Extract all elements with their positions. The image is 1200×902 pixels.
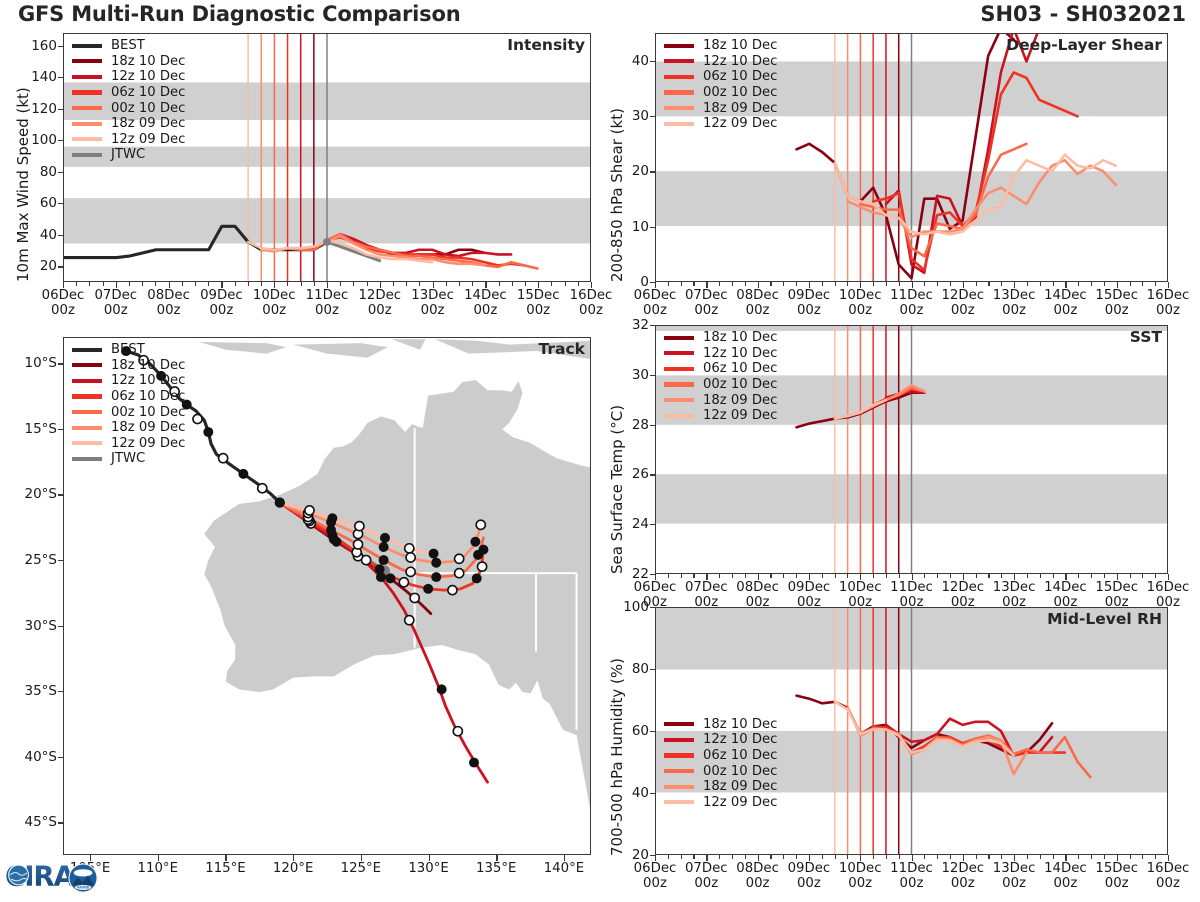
panel-intensity-title: Intensity [507,36,585,54]
x-tick-label: 16Dec00z [1147,289,1190,319]
y-tick-mark [650,474,655,475]
x-tick-minor [847,574,848,578]
x-tick-minor [886,855,887,859]
x-tick-minor [393,282,394,286]
x-tick-minor [195,282,196,286]
x-tick-minor [1078,855,1079,859]
x-tick-mark [1117,574,1118,580]
legend-label: 18z 09 Dec [703,779,777,794]
legend-swatch [664,106,694,110]
x-tick-label: 13Dec00z [993,289,1036,319]
x-tick-mark [809,855,810,861]
lat-tick-mark [58,822,63,823]
x-tick-label: 10Dec00z [839,862,882,892]
x-tick-minor [693,855,694,859]
legend-item-run_06z10[interactable]: 06z 10 Dec [664,361,777,377]
legend-label: 00z 10 Dec [703,377,777,392]
x-tick-minor [103,282,104,286]
panel-shear-title: Deep-Layer Shear [1006,36,1162,54]
x-tick-minor [1091,282,1092,286]
x-tick-mark [591,282,592,288]
x-tick-minor [783,574,784,578]
x-tick-mark [485,282,486,288]
x-tick-mark [1065,282,1066,288]
x-tick-mark [1168,855,1169,861]
x-tick-mark [63,282,64,288]
y-tick-mark [58,77,63,78]
legend-swatch [664,351,694,355]
legend-item-run_12z09[interactable]: 12z 09 Dec [664,794,777,810]
lon-tick-label: 120°E [273,862,313,877]
legend-swatch [72,122,102,126]
x-tick-minor [499,282,500,286]
x-tick-mark [380,282,381,288]
storm-id-title: SH03 - SH032021 [980,2,1186,26]
legend-item-run_18z10[interactable]: 18z 10 Dec [72,54,185,70]
legend-item-run_00z10[interactable]: 00z 10 Dec [72,100,185,116]
x-tick-mark [758,282,759,288]
legend-label: 18z 09 Dec [111,116,185,131]
x-tick-minor [847,855,848,859]
x-tick-minor [745,574,746,578]
x-tick-minor [950,855,951,859]
x-tick-minor [353,282,354,286]
x-tick-minor [1001,282,1002,286]
y-tick-mark [58,140,63,141]
x-tick-minor [1053,855,1054,859]
x-tick-minor [822,855,823,859]
x-tick-mark [1168,282,1169,288]
cira-logo: CIRA RAMMB [4,854,108,898]
legend-item-run_18z09[interactable]: 18z 09 Dec [72,116,185,132]
legend-item-run_12z10[interactable]: 12z 10 Dec [72,373,185,389]
x-tick-mark [116,282,117,288]
y-tick-mark [58,109,63,110]
x-tick-minor [1001,855,1002,859]
x-tick-minor [796,855,797,859]
legend-swatch [664,90,694,94]
x-tick-label: 15Dec00z [517,289,560,319]
x-tick-mark [912,282,913,288]
legend-item-run_06z10[interactable]: 06z 10 Dec [664,69,777,85]
x-tick-minor [988,855,989,859]
legend-item-run_12z09[interactable]: 12z 09 Dec [72,436,185,452]
x-tick-minor [406,282,407,286]
x-tick-label: 11Dec00z [890,289,933,319]
legend-swatch [664,800,694,804]
y-tick-mark [58,203,63,204]
x-tick-minor [1053,574,1054,578]
x-tick-minor [1142,855,1143,859]
legend-item-run_06z10[interactable]: 06z 10 Dec [72,85,185,101]
x-tick-minor [301,282,302,286]
x-tick-minor [719,282,720,286]
legend-swatch [72,44,102,48]
x-tick-minor [822,282,823,286]
lon-tick-mark [564,855,565,861]
legend-swatch [664,44,694,48]
legend-swatch [72,137,102,141]
legend-label: 12z 09 Dec [703,116,777,131]
legend-swatch [72,363,102,367]
legend-item-run_00z10[interactable]: 00z 10 Dec [664,763,777,779]
legend-item-run_18z10[interactable]: 18z 10 Dec [664,330,777,346]
x-tick-minor [1091,574,1092,578]
x-tick-mark [706,282,707,288]
x-tick-label: 15Dec00z [1095,289,1138,319]
x-tick-label: 10Dec00z [253,289,296,319]
legend-label: 18z 09 Dec [703,101,777,116]
x-tick-minor [732,574,733,578]
x-tick-minor [899,574,900,578]
x-tick-minor [719,574,720,578]
legend-item-run_12z09[interactable]: 12z 09 Dec [72,132,185,148]
x-tick-minor [1155,855,1156,859]
legend-label: 12z 10 Dec [703,54,777,69]
x-tick-minor [745,855,746,859]
x-tick-minor [1130,574,1131,578]
y-tick-mark [650,116,655,117]
legend-swatch [72,457,102,461]
legend-label: 12z 09 Dec [703,795,777,810]
legend-swatch [72,348,102,352]
x-tick-minor [1027,574,1028,578]
legend-swatch [664,75,694,79]
lon-tick-mark [158,855,159,861]
lon-tick-label: 110°E [138,862,178,877]
y-tick-mark [650,171,655,172]
x-tick-minor [668,855,669,859]
legend-label: 00z 10 Dec [111,101,185,116]
legend-item-run_00z10[interactable]: 00z 10 Dec [72,404,185,420]
legend-item-run_18z09[interactable]: 18z 09 Dec [664,779,777,795]
legend-item-run_12z09[interactable]: 12z 09 Dec [664,116,777,132]
lat-tick-label: 40°S [5,749,57,765]
y-tick-mark [58,235,63,236]
legend-swatch [664,722,694,726]
x-tick-mark [538,282,539,288]
legend-label: 18z 10 Dec [703,717,777,732]
x-tick-minor [745,282,746,286]
legend-label: 12z 10 Dec [703,732,777,747]
legend-label: 06z 10 Dec [111,85,185,100]
y-tick-mark [650,607,655,608]
lon-tick-mark [293,855,294,861]
x-tick-minor [1053,282,1054,286]
legend-item-run_06z10[interactable]: 06z 10 Dec [664,748,777,764]
legend-swatch [72,410,102,414]
x-tick-minor [1078,282,1079,286]
x-tick-label: 09Dec00z [788,289,831,319]
legend-swatch [664,367,694,371]
x-tick-minor [1078,574,1079,578]
lat-tick-mark [58,626,63,627]
lat-tick-label: 10°S [5,355,57,371]
y-tick-mark [650,793,655,794]
x-tick-minor [248,282,249,286]
legend-item-run_12z10[interactable]: 12z 10 Dec [664,346,777,362]
legend-swatch [664,59,694,63]
x-tick-mark [655,855,656,861]
x-tick-minor [1040,855,1041,859]
x-tick-mark [758,855,759,861]
legend-item-run_12z10[interactable]: 12z 10 Dec [664,732,777,748]
legend-item-best[interactable]: BEST [72,38,185,54]
x-tick-minor [693,282,694,286]
x-tick-minor [287,282,288,286]
x-tick-label: 11Dec00z [306,289,349,319]
x-tick-minor [835,855,836,859]
legend-item-run_00z10[interactable]: 00z 10 Dec [664,377,777,393]
x-tick-minor [988,574,989,578]
x-tick-mark [433,282,434,288]
x-tick-mark [809,574,810,580]
lat-tick-mark [58,494,63,495]
legend-swatch [72,75,102,79]
x-tick-minor [1001,574,1002,578]
legend-item-run_18z10[interactable]: 18z 10 Dec [664,716,777,732]
panel-intensity: Intensity BEST18z 10 Dec12z 10 Dec06z 10… [63,33,591,282]
lat-tick-label: 15°S [5,421,57,437]
x-tick-minor [732,855,733,859]
x-tick-minor [950,574,951,578]
y-tick-mark [650,425,655,426]
lon-tick-mark [225,855,226,861]
x-tick-mark [912,855,913,861]
y-tick-mark [650,61,655,62]
x-tick-label: 09Dec00z [200,289,243,319]
legend-swatch [72,59,102,63]
x-tick-minor [770,282,771,286]
x-tick-mark [706,574,707,580]
x-tick-mark [1117,855,1118,861]
x-tick-minor [783,855,784,859]
x-tick-minor [937,574,938,578]
legend-item-run_18z09[interactable]: 18z 09 Dec [72,420,185,436]
x-tick-minor [235,282,236,286]
panel-rh: Mid-Level RH 18z 10 Dec12z 10 Dec06z 10 … [655,607,1168,855]
x-tick-minor [873,855,874,859]
x-tick-mark [1168,574,1169,580]
x-tick-mark [912,574,913,580]
legend-swatch [72,379,102,383]
x-tick-minor [208,282,209,286]
legend-intensity: BEST18z 10 Dec12z 10 Dec06z 10 Dec00z 10… [72,38,185,163]
lat-tick-label: 30°S [5,618,57,634]
x-tick-minor [668,282,669,286]
panel-track: Track BEST18z 10 Dec12z 10 Dec06z 10 Dec… [63,337,591,855]
x-tick-label: 12Dec00z [941,289,984,319]
x-tick-minor [551,282,552,286]
legend-item-run_12z10[interactable]: 12z 10 Dec [664,54,777,70]
lat-tick-mark [58,757,63,758]
lat-tick-mark [58,560,63,561]
lon-tick-label: 135°E [476,862,516,877]
svg-text:RAMMB: RAMMB [77,885,89,889]
legend-item-run_18z09[interactable]: 18z 09 Dec [664,392,777,408]
panel-shear: Deep-Layer Shear 18z 10 Dec12z 10 Dec06z… [655,33,1168,282]
x-tick-minor [261,282,262,286]
rh-y-label: 700-500 hPa Humidity (%) [608,658,626,856]
y-tick-mark [58,46,63,47]
legend-item-run_06z10[interactable]: 06z 10 Dec [72,389,185,405]
x-tick-minor [847,282,848,286]
legend-swatch [72,90,102,94]
x-tick-minor [796,282,797,286]
x-tick-mark [655,282,656,288]
x-tick-minor [681,855,682,859]
x-tick-mark [963,574,964,580]
x-tick-minor [367,282,368,286]
y-tick-mark [650,375,655,376]
legend-label: 00z 10 Dec [703,85,777,100]
legend-swatch [664,398,694,402]
x-tick-minor [1027,855,1028,859]
x-tick-minor [873,574,874,578]
x-tick-minor [681,574,682,578]
x-tick-mark [1014,282,1015,288]
y-tick-label: 32 [609,317,649,333]
legend-label: 06z 10 Dec [703,748,777,763]
legend-shear: 18z 10 Dec12z 10 Dec06z 10 Dec00z 10 Dec… [664,38,777,132]
figure-root: GFS Multi-Run Diagnostic Comparison SH03… [0,0,1200,900]
lon-tick-mark [496,855,497,861]
x-tick-mark [963,282,964,288]
legend-rh: 18z 10 Dec12z 10 Dec06z 10 Dec00z 10 Dec… [664,716,777,810]
legend-item-run_00z10[interactable]: 00z 10 Dec [664,85,777,101]
x-tick-minor [446,282,447,286]
intensity-y-label: 10m Max Wind Speed (kt) [14,87,32,282]
x-tick-minor [899,855,900,859]
legend-label: 18z 10 Dec [703,38,777,53]
panel-sst-title: SST [1130,328,1162,346]
x-tick-mark [169,282,170,288]
x-tick-minor [459,282,460,286]
y-tick-label: 140 [17,69,57,85]
legend-label: 12z 09 Dec [703,408,777,423]
legend-swatch [72,106,102,110]
x-tick-label: 09Dec00z [788,862,831,892]
y-tick-mark [650,731,655,732]
x-tick-minor [668,574,669,578]
x-tick-minor [950,282,951,286]
x-tick-minor [988,282,989,286]
x-tick-minor [924,574,925,578]
legend-item-jtwc[interactable]: JTWC [72,147,185,163]
x-tick-mark [1117,282,1118,288]
legend-label: 12z 09 Dec [111,436,185,451]
legend-item-best[interactable]: BEST [72,342,185,358]
legend-label: 00z 10 Dec [703,764,777,779]
x-tick-label: 08Dec00z [736,862,779,892]
x-tick-mark [1065,574,1066,580]
legend-swatch [72,153,102,157]
x-tick-mark [706,855,707,861]
x-tick-minor [182,282,183,286]
lon-tick-label: 140°E [544,862,584,877]
x-tick-minor [822,574,823,578]
x-tick-label: 07Dec00z [685,289,728,319]
panel-track-title: Track [539,340,585,358]
x-tick-label: 16Dec00z [570,289,613,319]
x-tick-minor [937,855,938,859]
x-tick-minor [886,282,887,286]
x-tick-minor [976,574,977,578]
x-tick-minor [419,282,420,286]
x-tick-minor [783,282,784,286]
x-tick-mark [1014,574,1015,580]
legend-label: BEST [111,38,145,53]
legend-label: JTWC [111,451,145,466]
legend-label: 18z 09 Dec [111,420,185,435]
x-tick-mark [758,574,759,580]
x-tick-minor [1130,855,1131,859]
legend-swatch [72,441,102,445]
legend-swatch [664,753,694,757]
x-tick-minor [796,574,797,578]
x-tick-label: 16Dec00z [1147,862,1190,892]
legend-swatch [664,769,694,773]
lat-tick-label: 20°S [5,486,57,502]
x-tick-minor [924,282,925,286]
legend-label: 18z 10 Dec [111,358,185,373]
x-tick-label: 12Dec00z [358,289,401,319]
legend-label: 12z 10 Dec [111,373,185,388]
x-tick-mark [655,574,656,580]
x-tick-minor [770,574,771,578]
sst-y-label: Sea Surface Temp (°C) [608,405,626,574]
x-tick-minor [1104,282,1105,286]
x-tick-minor [976,855,977,859]
x-tick-mark [963,855,964,861]
x-tick-minor [1091,855,1092,859]
legend-item-run_12z10[interactable]: 12z 10 Dec [72,69,185,85]
legend-swatch [664,336,694,340]
panel-rh-title: Mid-Level RH [1047,610,1162,628]
x-tick-minor [1027,282,1028,286]
x-tick-label: 06Dec00z [634,862,677,892]
legend-item-run_18z10[interactable]: 18z 10 Dec [664,38,777,54]
legend-item-run_12z09[interactable]: 12z 09 Dec [664,408,777,424]
legend-track: BEST18z 10 Dec12z 10 Dec06z 10 Dec00z 10… [72,342,185,467]
x-tick-mark [327,282,328,288]
x-tick-label: 15Dec00z [1095,862,1138,892]
x-tick-label: 14Dec00z [464,289,507,319]
x-tick-minor [1142,574,1143,578]
x-tick-minor [719,855,720,859]
legend-item-run_18z10[interactable]: 18z 10 Dec [72,358,185,374]
y-tick-mark [58,172,63,173]
x-tick-label: 08Dec00z [147,289,190,319]
legend-label: 18z 10 Dec [111,54,185,69]
legend-item-run_18z09[interactable]: 18z 09 Dec [664,100,777,116]
x-tick-mark [221,282,222,288]
x-tick-label: 07Dec00z [685,862,728,892]
x-tick-minor [142,282,143,286]
x-tick-label: 14Dec00z [1044,289,1087,319]
y-tick-mark [650,325,655,326]
shear-y-label: 200-850 hPa Shear (kt) [608,108,626,282]
legend-label: 12z 10 Dec [111,69,185,84]
y-tick-label: 30 [609,367,649,383]
x-tick-label: 13Dec00z [993,862,1036,892]
x-tick-minor [873,282,874,286]
legend-label: 12z 09 Dec [111,132,185,147]
x-tick-minor [886,574,887,578]
legend-item-jtwc[interactable]: JTWC [72,451,185,467]
x-tick-minor [314,282,315,286]
legend-swatch [664,785,694,789]
